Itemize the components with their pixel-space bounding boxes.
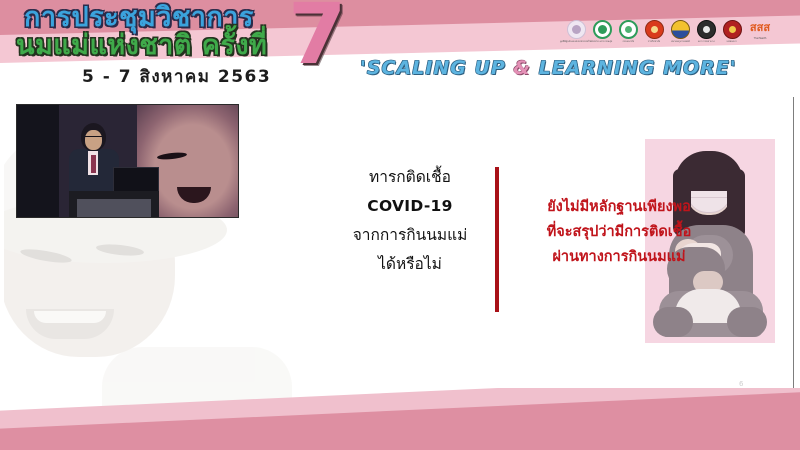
conference-date: 5 - 7 สิงหาคม 2563	[82, 63, 271, 90]
question-line-4: ได้หรือไม่	[334, 250, 486, 279]
organizer-logo-strip: มูลนิธิศูนย์นมแม่แห่งประเทศไทย กระทรวงสา…	[565, 20, 773, 46]
logo-dept-health-icon: กรมอนามัย	[617, 20, 639, 46]
answer-text-block: ยังไม่มีหลักฐานเพียงพอ ที่จะสรุปว่ามีการ…	[504, 195, 734, 270]
slogan-ampersand: &	[513, 57, 531, 79]
conference-title-line2: นมแม่แห่งชาติ ครั้งที่	[16, 31, 267, 61]
footer-pink-band	[0, 388, 800, 450]
logo-pediatric-society-icon: สมาคมกุมารแพทย์	[669, 20, 691, 46]
conference-banner: 7 การประชุมวิชาการ นมแม่แห่งชาติ ครั้งที…	[0, 0, 800, 97]
answer-line-2: ที่จะสรุปว่ามีการติดเชื้อ	[504, 220, 734, 245]
conference-edition-number: 7	[288, 0, 346, 76]
footer-bottom-strip	[0, 436, 800, 450]
question-line-1: ทารกติดเชื้อ	[334, 163, 486, 192]
logo-ministry-public-health-icon: กระทรวงสาธารณสุข	[591, 20, 613, 46]
conference-title-line1: การประชุมวิชาการ	[24, 3, 254, 33]
red-vertical-divider	[495, 167, 499, 312]
question-text-block: ทารกติดเชื้อ COVID-19 จากการกินนมแม่ ได้…	[334, 163, 486, 279]
logo-royal-college-icon: ราชวิทยาลัย	[643, 20, 665, 46]
answer-line-1: ยังไม่มีหลักฐานเพียงพอ	[504, 195, 734, 220]
logo-thaihealth-sss-icon: สสสThaiHealth	[747, 20, 773, 46]
answer-line-3: ผ่านทางการกินนมแม่	[504, 245, 734, 270]
question-line-3: จากการกินนมแม่	[334, 221, 486, 250]
slide-number: 6	[739, 380, 743, 388]
slogan-part-2: LEARNING MORE'	[531, 57, 737, 79]
presentation-screenshot: 7 การประชุมวิชาการ นมแม่แห่งชาติ ครั้งที…	[0, 0, 800, 450]
slogan-part-1: 'SCALING UP	[360, 57, 513, 79]
logo-medical-council-icon: แพทยสภา	[721, 20, 743, 46]
question-line-2: COVID-19	[334, 192, 486, 221]
logo-nursing-council-icon: สภาการพยาบาล	[695, 20, 717, 46]
conference-slogan: 'SCALING UP & LEARNING MORE'	[360, 57, 737, 79]
speaker-video-thumbnail[interactable]	[17, 105, 238, 217]
logo-thai-breastfeeding-centre-icon: มูลนิธิศูนย์นมแม่แห่งประเทศไทย	[565, 20, 587, 46]
